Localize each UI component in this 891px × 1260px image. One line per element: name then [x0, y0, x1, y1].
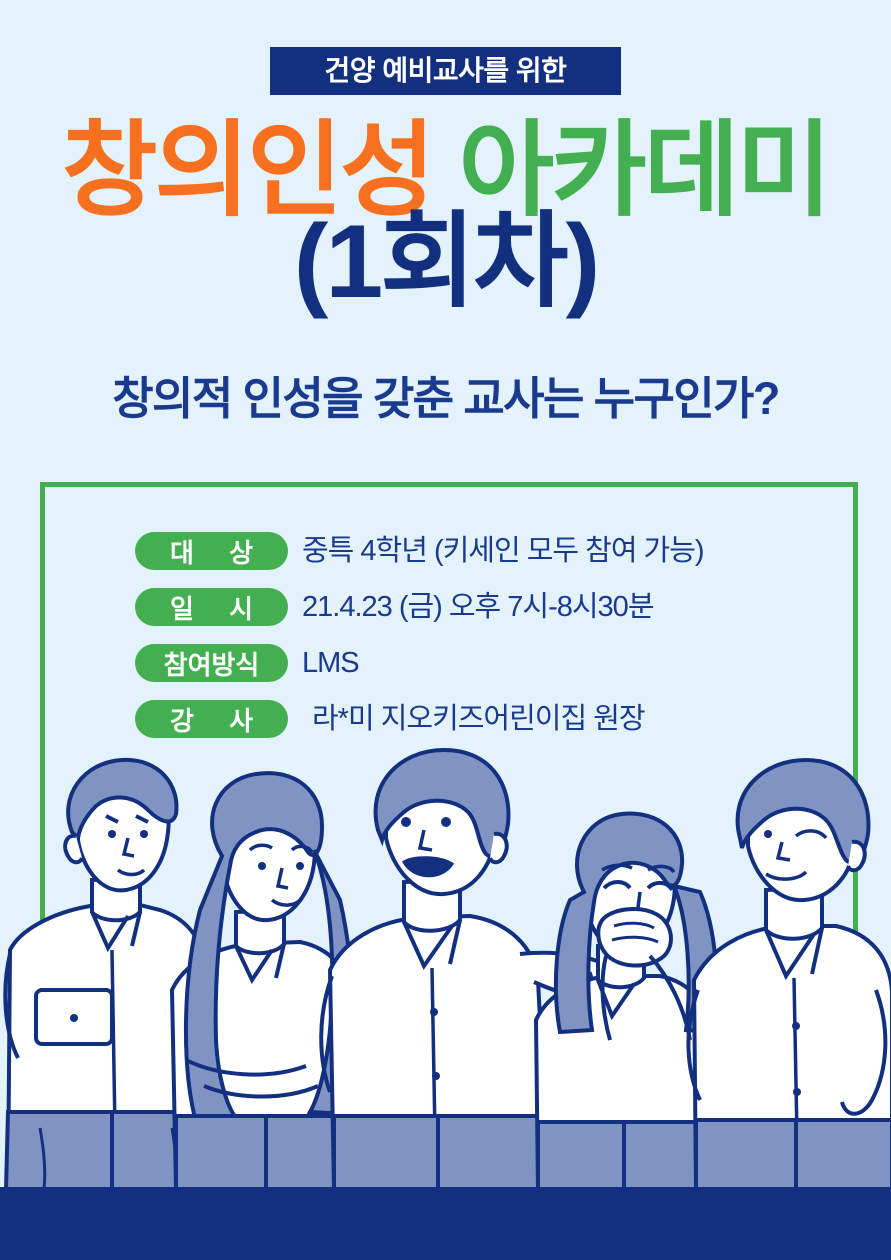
top-banner-text: 건양 예비교사를 위한: [325, 57, 567, 85]
info-label-datetime: 일 시: [135, 588, 288, 626]
student-figure-4: [536, 814, 717, 1190]
footer-bar: [0, 1187, 891, 1260]
info-label-method: 참여방식: [135, 644, 288, 682]
top-banner: 건양 예비교사를 위한: [270, 47, 621, 95]
title-block: 창의인성 아카데미 (1회차): [0, 118, 891, 314]
info-list: 대 상 중특 4학년 (키세인 모두 참여 가능) 일 시 21.4.23 (금…: [135, 532, 835, 756]
info-label-instructor: 강 사: [135, 700, 288, 738]
students-illustration: [0, 740, 891, 1190]
info-label-target: 대 상: [135, 532, 288, 570]
info-row-instructor: 강 사 라*미 지오키즈어린이집 원장: [135, 700, 835, 738]
info-row-datetime: 일 시 21.4.23 (금) 오후 7시-8시30분: [135, 588, 835, 626]
info-row-method: 참여방식 LMS: [135, 644, 835, 682]
five-students-line-art-svg: [0, 740, 891, 1190]
info-row-target: 대 상 중특 4학년 (키세인 모두 참여 가능): [135, 532, 835, 570]
info-value-instructor: 라*미 지오키즈어린이집 원장: [312, 705, 645, 734]
info-value-target: 중특 4학년 (키세인 모두 참여 가능): [302, 537, 704, 566]
poster-subtitle: 창의적 인성을 갖춘 교사는 누구인가?: [0, 374, 891, 424]
poster-root: 건양 예비교사를 위한 창의인성 아카데미 (1회차) 창의적 인성을 갖춘 교…: [0, 0, 891, 1260]
title-part-session: (1회차): [294, 204, 597, 320]
info-value-method: LMS: [302, 649, 359, 678]
student-figure-5: [688, 760, 891, 1190]
info-value-datetime: 21.4.23 (금) 오후 7시-8시30분: [302, 593, 654, 622]
